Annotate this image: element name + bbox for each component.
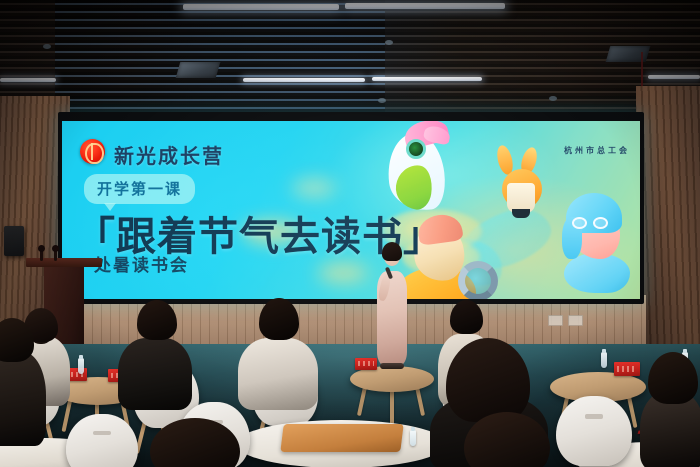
table-name-card xyxy=(355,358,377,370)
screen-subtitle: 处暑读书会 xyxy=(94,251,189,276)
audience-member xyxy=(118,300,196,410)
audience-hair xyxy=(648,352,698,404)
chair-band xyxy=(585,414,603,419)
screen-glow xyxy=(318,263,368,283)
audience-hair xyxy=(446,338,530,422)
audience-member-foreground xyxy=(0,318,48,446)
audience-member-foreground xyxy=(150,418,240,467)
illustration-rabbit-figure xyxy=(490,145,554,227)
audience-member-foreground xyxy=(464,412,550,467)
audience-body xyxy=(238,338,318,410)
podium-microphone xyxy=(54,249,57,261)
podium-top xyxy=(26,258,102,267)
blue-figure-body xyxy=(564,253,630,293)
audience-hair xyxy=(150,418,240,467)
water-bottle xyxy=(78,358,84,374)
screen-organization-label: 杭州市总工会 xyxy=(564,145,630,156)
table-name-card xyxy=(614,362,640,376)
chair-band xyxy=(93,431,110,435)
screen-brand-title: 新光成长营 xyxy=(114,140,224,169)
water-bottle xyxy=(410,430,416,446)
audience-hair xyxy=(464,412,550,467)
audience-hair xyxy=(137,300,177,340)
audience-member xyxy=(238,298,320,410)
acftu-emblem-icon xyxy=(80,139,105,164)
presenter xyxy=(377,237,409,371)
audience-chair xyxy=(556,396,632,466)
screen-glow xyxy=(292,179,336,197)
audience-hair xyxy=(0,318,34,362)
illustration-ring-shape xyxy=(458,261,498,299)
glasses-icon xyxy=(572,217,610,229)
bird-eye xyxy=(406,139,426,159)
screen-badge: 开学第一课 xyxy=(84,174,195,204)
illustration-blue-figure xyxy=(568,193,634,295)
audience-hair xyxy=(450,300,483,334)
audience-hair xyxy=(259,298,299,340)
rabbit-base xyxy=(512,209,530,218)
wall-outlet xyxy=(548,315,563,326)
photo-scene: 新光成长营 杭州市总工会 开学第一课 「跟着节气去读书」 处暑读书会 xyxy=(0,0,700,467)
audience-member-foreground xyxy=(640,352,700,467)
presenter-shoes xyxy=(380,363,404,369)
ceiling xyxy=(0,0,700,118)
presenter-hair xyxy=(382,242,402,261)
wall-outlet xyxy=(568,315,583,326)
foreground-wooden-tray xyxy=(280,424,403,452)
ceiling-vignette xyxy=(0,0,700,118)
podium-microphone xyxy=(40,249,43,261)
water-bottle xyxy=(601,352,607,368)
audience-body xyxy=(118,338,192,410)
led-presentation-screen: 新光成长营 杭州市总工会 开学第一课 「跟着节气去读书」 处暑读书会 xyxy=(62,121,640,299)
audience-body xyxy=(0,352,46,446)
wall-speaker-icon xyxy=(4,226,24,256)
